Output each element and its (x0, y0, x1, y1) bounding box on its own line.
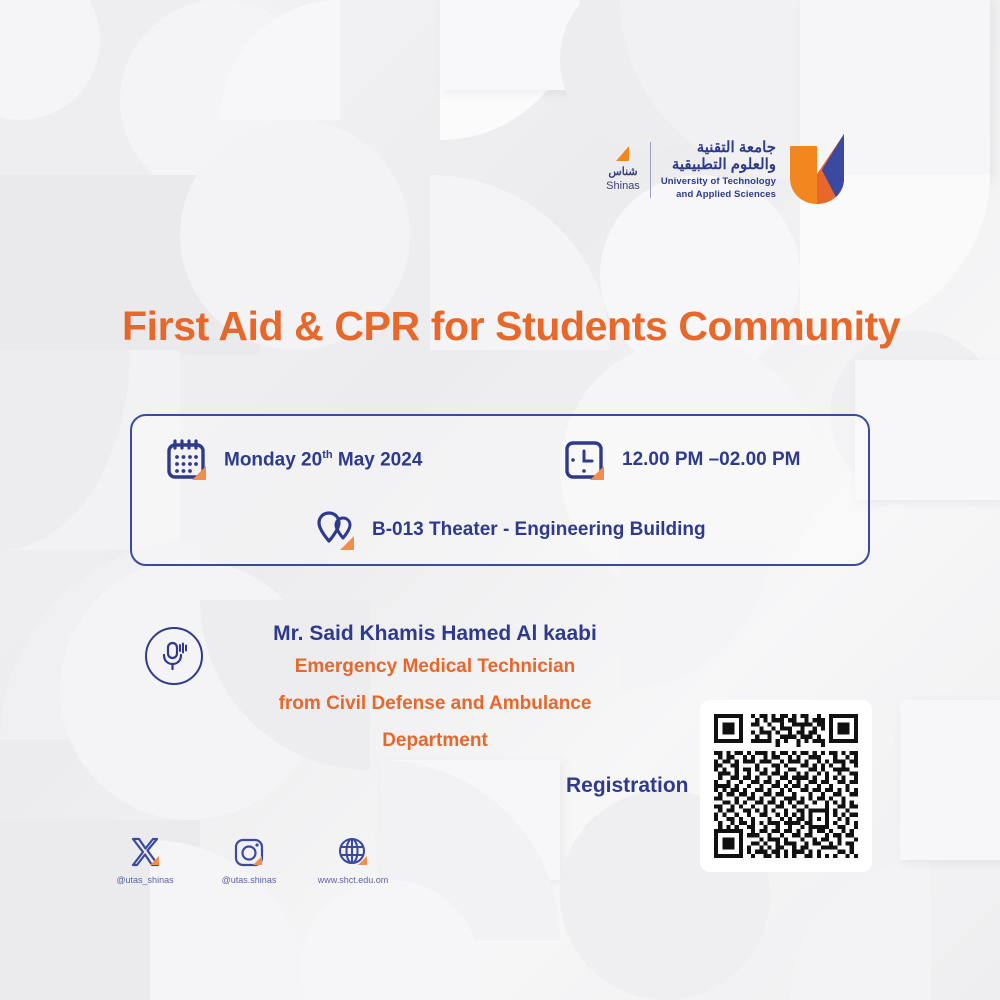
social-handle-website: www.shct.edu.om (316, 875, 390, 885)
detail-date-text: Monday 20th May 2024 (224, 449, 422, 471)
logo-branch-english: Shinas (606, 179, 640, 193)
triangle-mark-icon (616, 146, 629, 161)
detail-location-text: B-013 Theater - Engineering Building (372, 519, 706, 541)
logo-arabic-line2: والعلوم التطبيقية (661, 156, 776, 174)
detail-date: Monday 20th May 2024 (164, 438, 422, 482)
microphone-icon (145, 627, 203, 685)
detail-time-text: 12.00 PM –02.00 PM (622, 449, 801, 471)
speaker-role-line1: Emergency Medical Technician (225, 652, 645, 683)
registration-label: Registration (566, 774, 689, 798)
clock-icon (562, 438, 606, 482)
utas-logo: شناس Shinas جامعة التقنية والعلوم التطبي… (606, 128, 848, 211)
social-links: @utas_shinas @utas.shinas (108, 834, 390, 885)
logo-shinas-branch: شناس Shinas (606, 146, 640, 193)
speaker-role-line2: from Civil Defense and Ambulance (225, 689, 645, 720)
speaker-info: Mr. Said Khamis Hamed Al kaabi Emergency… (225, 622, 645, 756)
logo-english-line1: University of Technology (661, 176, 776, 187)
logo-mark-icon (786, 128, 848, 211)
logo-arabic-line1: جامعة التقنية (661, 139, 776, 157)
speaker-name: Mr. Said Khamis Hamed Al kaabi (225, 622, 645, 646)
social-handle-instagram: @utas.shinas (212, 875, 286, 885)
detail-time: 12.00 PM –02.00 PM (562, 438, 801, 482)
social-link-instagram[interactable]: @utas.shinas (212, 834, 286, 885)
x-twitter-icon (108, 834, 182, 870)
globe-icon (316, 834, 390, 870)
logo-branch-arabic: شناس (606, 166, 640, 179)
page-title: First Aid & CPR for Students Community (122, 303, 900, 350)
map-pin-icon (312, 508, 356, 552)
logo-university-text: جامعة التقنية والعلوم التطبيقية Universi… (661, 139, 776, 201)
logo-english-line2: and Applied Sciences (661, 189, 776, 200)
social-handle-x: @utas_shinas (108, 875, 182, 885)
social-link-x[interactable]: @utas_shinas (108, 834, 182, 885)
speaker-role-line3: Department (225, 726, 645, 757)
qr-code[interactable] (700, 700, 872, 872)
detail-location: B-013 Theater - Engineering Building (312, 508, 706, 552)
event-details-box: Monday 20th May 2024 12.00 PM –02.00 PM (130, 414, 870, 566)
event-poster: شناس Shinas جامعة التقنية والعلوم التطبي… (0, 0, 1000, 1000)
logo-divider (650, 142, 651, 198)
calendar-icon (164, 438, 208, 482)
instagram-icon (212, 834, 286, 870)
social-link-website[interactable]: www.shct.edu.om (316, 834, 390, 885)
